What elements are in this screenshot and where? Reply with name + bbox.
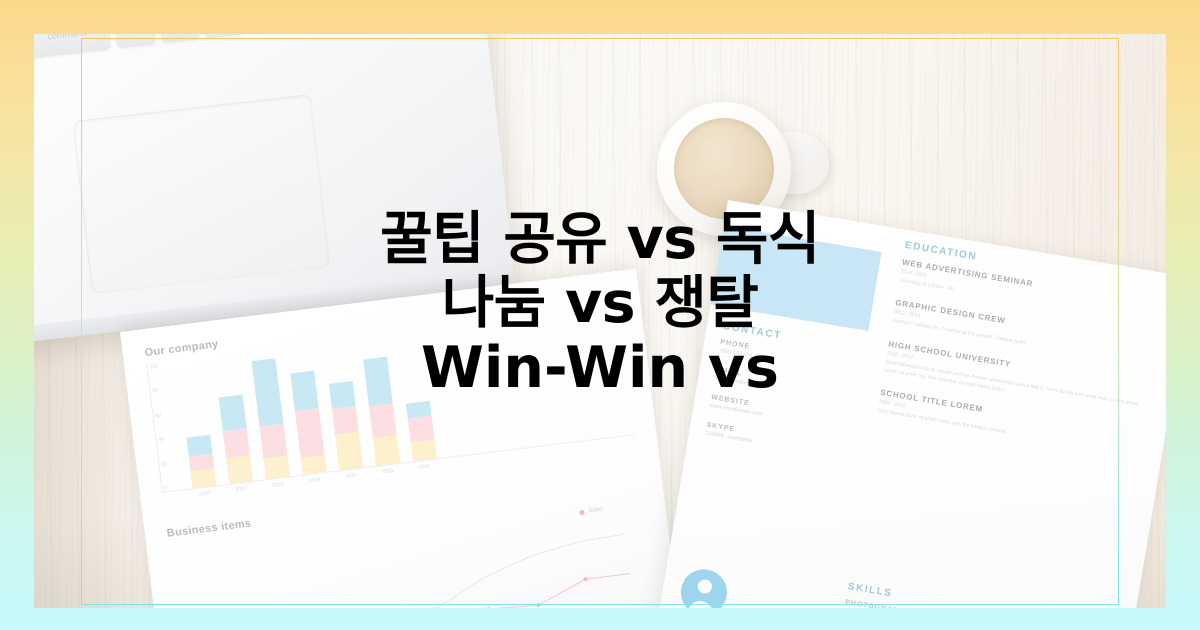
- keyboard-key: [202, 34, 245, 38]
- chart-bar: [406, 401, 437, 461]
- bar-segment-cream: [335, 431, 363, 470]
- laptop-trackpad: [72, 94, 330, 294]
- bar-segment-pink: [332, 406, 359, 434]
- x-tick-label: 2019: [302, 476, 327, 485]
- bar-segment-cream: [411, 439, 437, 461]
- bar-segment-cream: [373, 435, 400, 465]
- x-tick-label: 2020: [339, 471, 364, 480]
- bar-segment-pink: [369, 404, 397, 439]
- bar-segment-cream: [191, 468, 217, 488]
- chart-bar: [290, 370, 326, 475]
- bar-segment-cream: [263, 455, 289, 479]
- x-tick-label: 2016: [192, 489, 217, 498]
- avatar-body-icon: [687, 599, 715, 608]
- thumbnail-canvas: DFGHJKLZXCVBNMfnctrlaltcommandcommandalt…: [0, 0, 1200, 630]
- keyboard-key: [112, 34, 155, 48]
- chart-bar: [251, 358, 289, 479]
- bar-segment-cyan: [329, 381, 356, 409]
- background-photo: DFGHJKLZXCVBNMfnctrlaltcommandcommandalt…: [34, 34, 1166, 608]
- y-tick-label: 40: [158, 436, 167, 443]
- bar-segment-cyan: [251, 358, 283, 427]
- x-tick-label: 2017: [229, 485, 254, 494]
- bar-segment-pink: [295, 408, 325, 457]
- bar-segment-cream: [301, 455, 327, 475]
- resume-document: CONTACT PHONE+000 123 456 789EMAILinfo@y…: [650, 200, 1166, 608]
- chart-bar: [219, 394, 253, 484]
- resume-contact-column: CONTACT PHONE+000 123 456 789EMAILinfo@y…: [703, 321, 872, 474]
- avatar-head-icon: [697, 578, 713, 594]
- bar-segment-pink: [260, 423, 288, 458]
- chart-bar: [186, 435, 216, 489]
- stacked-bar-chart: 100806040200: [146, 307, 634, 493]
- chart-bar: [329, 381, 363, 471]
- y-tick-label: 100: [149, 364, 158, 371]
- bar-segment-pink: [223, 428, 250, 458]
- resume-skills-section: SKILLS PHOTOGRAPHYPHOTOSHOPINDESIGNWORDP…: [821, 581, 1095, 608]
- resume-education-column: EDUCATION WEB ADVERTISING SEMINAR2014 - …: [874, 240, 1162, 472]
- x-tick-label: 2022: [412, 462, 437, 471]
- bar-segment-pink: [408, 416, 435, 442]
- legend-dot-icon: [579, 509, 585, 515]
- skills-heading: SKILLS: [847, 581, 1095, 608]
- avatar: [677, 566, 730, 608]
- bar-segment-cyan: [363, 357, 393, 406]
- y-tick-label: 60: [155, 412, 164, 419]
- x-tick-label: 2018: [266, 480, 291, 489]
- bar-segment-cyan: [290, 370, 318, 411]
- chart-bar: [363, 357, 400, 466]
- keyboard-key: [157, 34, 200, 43]
- y-tick-label: 80: [152, 388, 161, 395]
- bar-segment-cyan: [219, 394, 247, 431]
- keyboard-key-command: command: [34, 34, 111, 58]
- chart-y-axis: 100806040200: [149, 364, 173, 492]
- y-tick-label: 0: [164, 485, 173, 492]
- x-tick-label: 2021: [376, 467, 401, 476]
- y-tick-label: 20: [161, 461, 170, 468]
- coffee-liquid: [674, 118, 774, 219]
- bar-segment-cream: [226, 455, 253, 483]
